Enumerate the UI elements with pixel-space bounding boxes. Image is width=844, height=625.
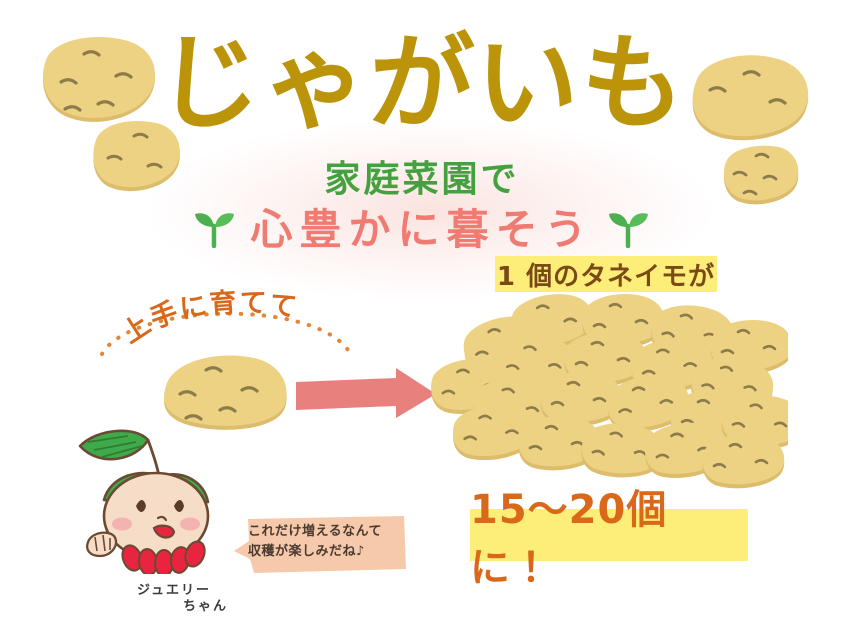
mascot-name-line2: ちゃん xyxy=(108,599,240,615)
cheek-right xyxy=(180,518,200,531)
hand xyxy=(87,533,116,556)
grow-caption: 上手に育てて xyxy=(118,296,348,356)
growth-arrow-icon xyxy=(294,368,440,424)
subtitle-green: 家庭菜園で xyxy=(0,150,844,202)
page-title: じゃがいも xyxy=(154,28,690,138)
cheek-left xyxy=(112,518,132,531)
subtitle-red: 心豊かに暮そう xyxy=(250,196,593,257)
sprout-icon xyxy=(192,206,238,248)
speech-bubble-text: これだけ増えるなんて 収穫が楽しみだね♪ xyxy=(248,522,406,562)
poster-title-wrap: じゃがいも xyxy=(0,28,844,138)
mascot-jewelry-chan xyxy=(62,424,232,574)
grow-caption-text: 上手に育てて xyxy=(117,287,301,350)
band-harvest-count: 15〜20個に！ xyxy=(470,509,748,561)
seed-potato xyxy=(158,352,298,434)
bubble-line-2: 収穫が楽しみだね♪ xyxy=(248,542,406,562)
potato-illustration xyxy=(164,356,287,430)
poster-canvas: じゃがいも 家庭菜園で 心豊かに暮そう 1 個のタネイモが 上手に育てて xyxy=(0,0,844,625)
bubble-line-1: これだけ増えるなんて xyxy=(248,522,406,542)
sprout-icon xyxy=(606,206,652,248)
mascot-name-label: ジュエリー ちゃん xyxy=(108,583,240,616)
band-seed-count: 1 個のタネイモが xyxy=(495,256,717,292)
mascot-name-line1: ジュエリー xyxy=(137,583,211,598)
subtitle-red-row: 心豊かに暮そう xyxy=(0,196,844,257)
